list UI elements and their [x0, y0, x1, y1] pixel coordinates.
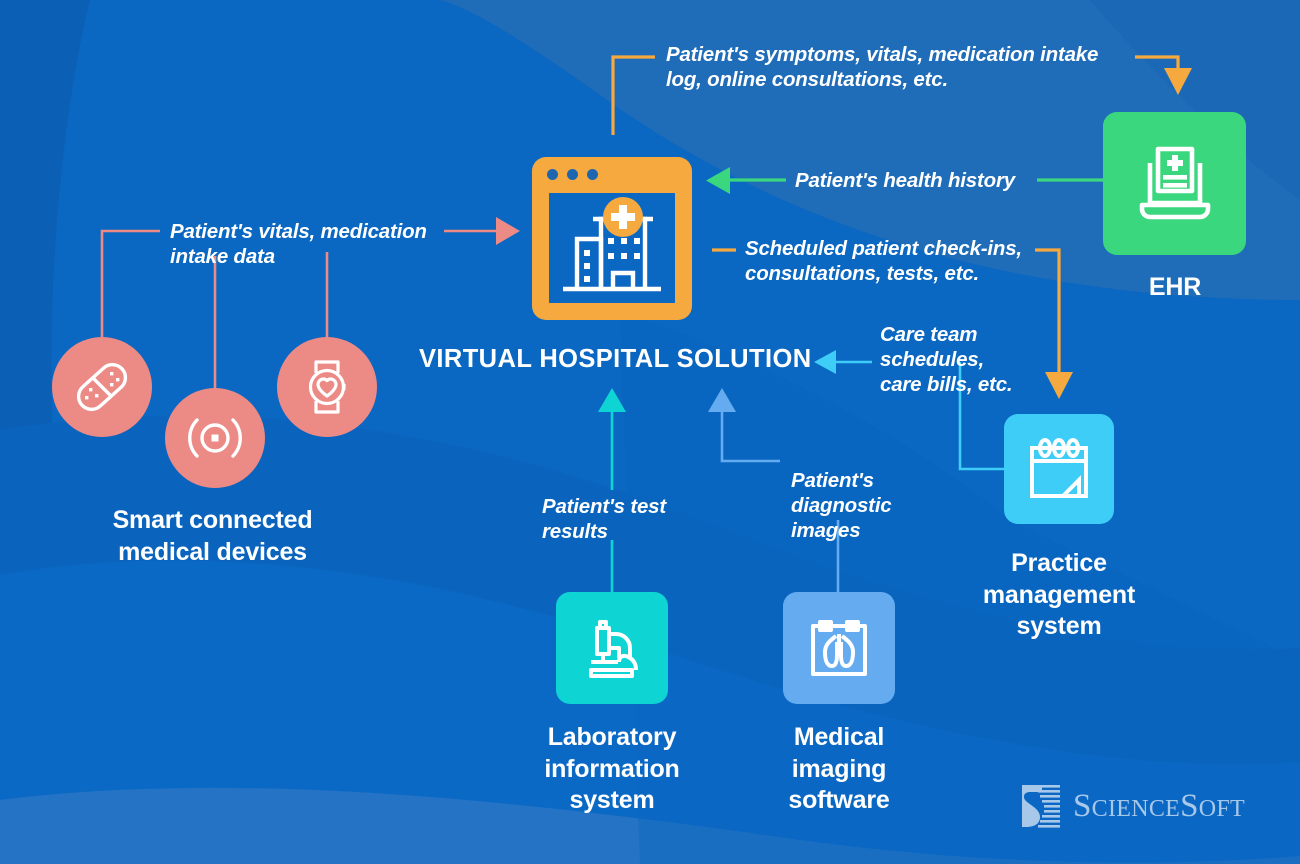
flow-label-line: results	[542, 519, 702, 544]
node-title-line: medical devices	[30, 537, 395, 569]
flow-label-pms-to-hub: Care team schedules, care bills, etc.	[880, 322, 1050, 397]
flow-label-lis-to-hub: Patient's test results	[542, 494, 702, 544]
node-title-line: management	[944, 580, 1174, 612]
node-practice-management-system[interactable]	[1004, 414, 1114, 524]
sciencesoft-logo: SCIENCESOFT	[1018, 783, 1245, 829]
flow-label-line: intake data	[170, 244, 460, 269]
flow-label-line: Scheduled patient check-ins,	[745, 236, 1045, 261]
hub-window-screen	[549, 193, 675, 303]
flow-label-ehr-to-hub: Patient's health history	[795, 168, 1045, 193]
flow-label-hub-to-pms: Scheduled patient check-ins, consultatio…	[745, 236, 1045, 286]
flow-label-line: schedules,	[880, 347, 1050, 372]
flow-label-line: diagnostic	[791, 493, 921, 518]
calendar-icon	[1026, 436, 1092, 502]
device-icon-wireless-sensor[interactable]	[165, 388, 265, 488]
node-title-line: Smart connected	[30, 505, 395, 537]
xray-lungs-icon	[805, 614, 873, 682]
flow-label-line: images	[791, 518, 921, 543]
flow-label-line: consultations, tests, etc.	[745, 261, 1045, 286]
node-title-line: EHR	[1090, 272, 1260, 304]
bandage-sensor-icon	[71, 356, 133, 418]
flow-label-line: Patient's test	[542, 494, 702, 519]
node-laboratory-information-system[interactable]	[556, 592, 668, 704]
node-ehr[interactable]	[1103, 112, 1246, 255]
link-lis-to-hub	[598, 388, 626, 592]
hub-window-titlebar	[532, 157, 692, 189]
flow-label-line: Patient's vitals, medication	[170, 219, 460, 244]
flow-label-hub-to-ehr: Patient's symptoms, vitals, medication i…	[666, 42, 1136, 92]
window-dot-3	[587, 169, 598, 180]
microscope-icon	[578, 614, 646, 682]
node-title-line: system	[944, 611, 1174, 643]
flow-label-line: log, online consultations, etc.	[666, 67, 1136, 92]
window-dot-1	[547, 169, 558, 180]
node-title-line: Laboratory	[497, 722, 727, 754]
diagram-canvas: VIRTUAL HOSPITAL SOLUTION	[0, 0, 1300, 864]
device-icon-bandage-sensor[interactable]	[52, 337, 152, 437]
node-title-practice-management-system: Practice management system	[944, 548, 1174, 643]
node-title-laboratory-information-system: Laboratory information system	[497, 722, 727, 817]
node-title-line: system	[497, 785, 727, 817]
node-title-ehr: EHR	[1090, 272, 1260, 304]
node-title-medical-imaging-software: Medical imaging software	[724, 722, 954, 817]
flow-label-line: Patient's symptoms, vitals, medication i…	[666, 42, 1136, 67]
node-medical-imaging-software[interactable]	[783, 592, 895, 704]
node-title-line: software	[724, 785, 954, 817]
node-title-smart-devices: Smart connected medical devices	[30, 505, 395, 568]
flow-label-line: care bills, etc.	[880, 372, 1050, 397]
hospital-building-icon	[549, 193, 675, 303]
hub-title: VIRTUAL HOSPITAL SOLUTION	[419, 345, 812, 374]
smartwatch-heart-icon	[296, 356, 358, 418]
flow-label-devices-to-hub: Patient's vitals, medication intake data	[170, 219, 460, 269]
node-title-line: information	[497, 754, 727, 786]
sciencesoft-mark-icon	[1018, 783, 1064, 829]
flow-label-line: Patient's	[791, 468, 921, 493]
node-title-line: imaging	[724, 754, 954, 786]
logo-text-s2: S	[1180, 788, 1199, 824]
logo-text-oft: OFT	[1199, 796, 1245, 822]
node-title-line: Practice	[944, 548, 1174, 580]
flow-label-line: Patient's health history	[795, 168, 1045, 193]
ehr-document-laptop-icon	[1132, 141, 1218, 227]
hub-node-virtual-hospital-solution[interactable]	[532, 157, 692, 320]
device-icon-smartwatch-heart[interactable]	[277, 337, 377, 437]
flow-label-line: Care team	[880, 322, 1050, 347]
flow-label-imaging-to-hub: Patient's diagnostic images	[791, 468, 921, 543]
sciencesoft-wordmark: SCIENCESOFT	[1073, 790, 1245, 823]
window-dot-2	[567, 169, 578, 180]
wireless-sensor-icon	[184, 407, 246, 469]
logo-text-cience: CIENCE	[1092, 796, 1180, 822]
logo-text-s1: S	[1073, 788, 1092, 824]
node-title-line: Medical	[724, 722, 954, 754]
